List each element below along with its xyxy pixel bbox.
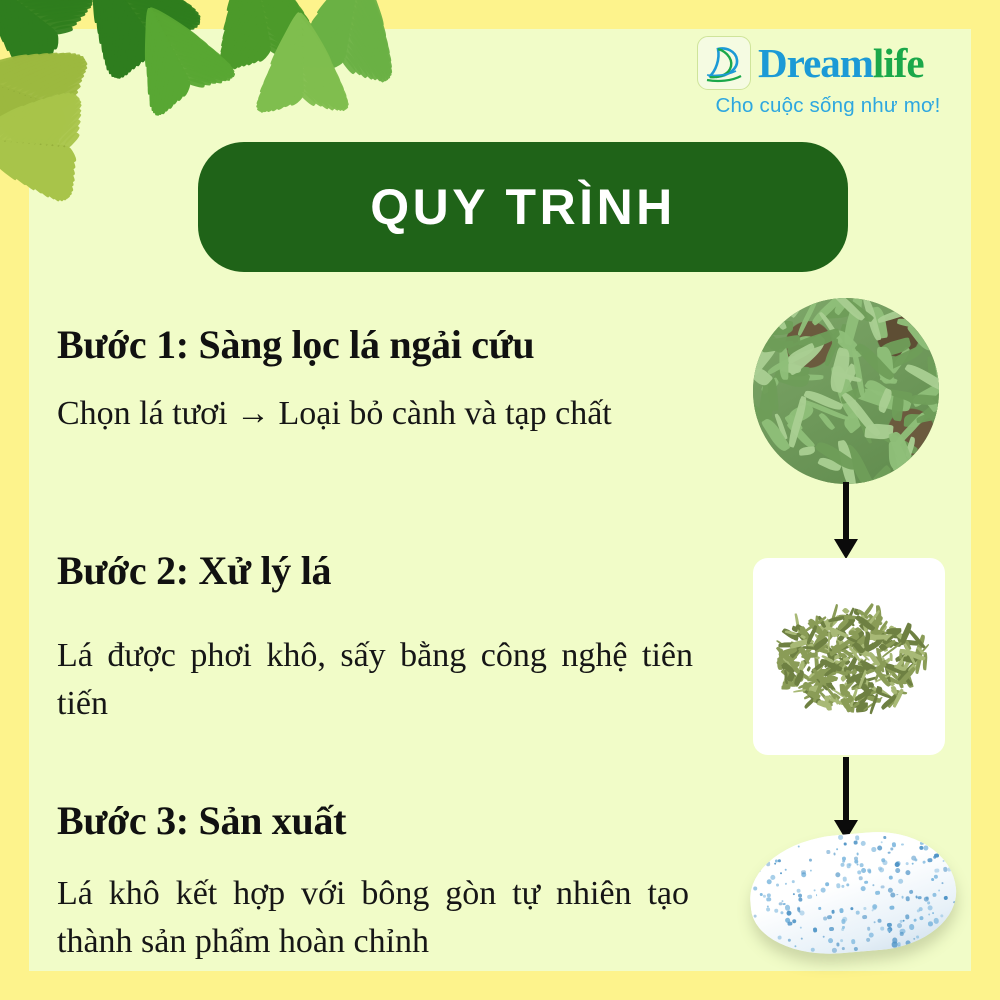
infographic-canvas: QUY TRÌNH Dreamlife Cho cuộc sống như mơ… <box>0 0 1000 1000</box>
brand-tagline: Cho cuộc sống như mơ! <box>697 94 959 118</box>
step-3-body: Lá khô kết hợp với bông gòn tự nhiên tạo… <box>57 870 689 967</box>
brand-name-life: life <box>873 40 924 86</box>
brand-name-dream: Dream <box>758 40 873 86</box>
dried-mugwort-leaves-photo <box>753 558 945 755</box>
step-2-body: Lá được phơi khô, sấy bằng công nghệ tiê… <box>57 632 693 729</box>
dreamlife-monogram-icon <box>697 36 751 90</box>
step-2-title: Bước 2: Xử lý lá <box>57 548 697 594</box>
palm-fronds-decoration <box>0 0 420 330</box>
finished-pillow-photo <box>746 826 964 972</box>
step-1-body: Chọn lá tươi → Loại bỏ cành và tạp chất <box>57 390 697 438</box>
fresh-mugwort-leaves-photo <box>753 298 939 484</box>
step-3-title: Bước 3: Sản xuất <box>57 798 697 844</box>
step-1-title: Bước 1: Sàng lọc lá ngải cứu <box>57 322 697 368</box>
down-arrow-icon-1 <box>831 482 861 560</box>
step-2: Bước 2: Xử lý lá Lá được phơi khô, sấy b… <box>57 548 697 729</box>
step-1: Bước 1: Sàng lọc lá ngải cứu Chọn lá tươ… <box>57 322 697 438</box>
brand-logo: Dreamlife Cho cuộc sống như mơ! <box>697 36 959 118</box>
brand-wordmark: Dreamlife <box>758 43 924 84</box>
step-3: Bước 3: Sản xuất Lá khô kết hợp với bông… <box>57 798 697 967</box>
